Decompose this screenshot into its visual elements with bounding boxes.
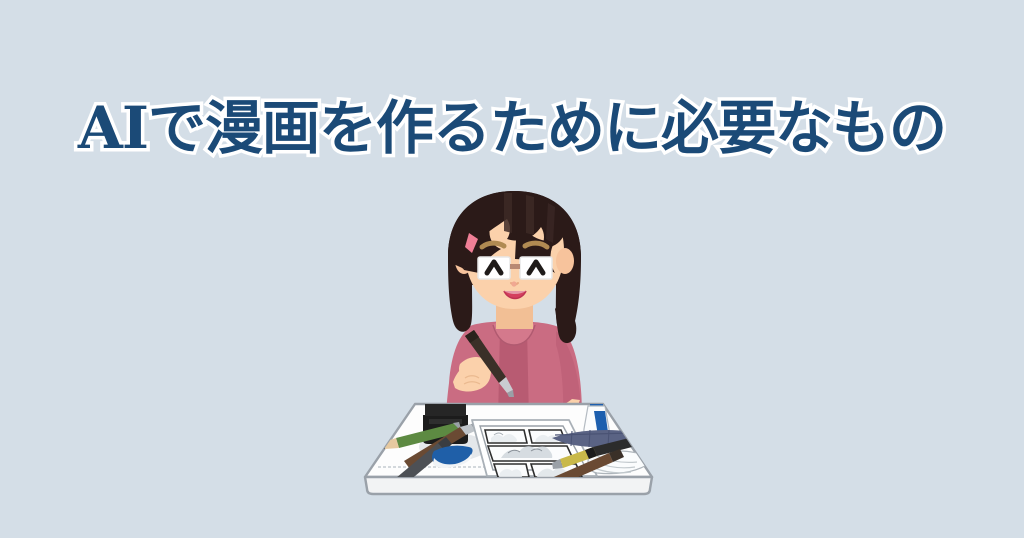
woman-manga-artist [446, 191, 582, 435]
panel-bottom-left [494, 464, 529, 477]
drawing-desk [365, 397, 652, 494]
title-container: AIで漫画を作るために必要なもの [0, 52, 1024, 204]
panel-top-left [485, 430, 527, 443]
page-canvas: AIで漫画を作るために必要なもの [0, 0, 1024, 538]
manga-artist-illustration [341, 185, 689, 500]
page-title: AIで漫画を作るために必要なもの [78, 91, 946, 165]
